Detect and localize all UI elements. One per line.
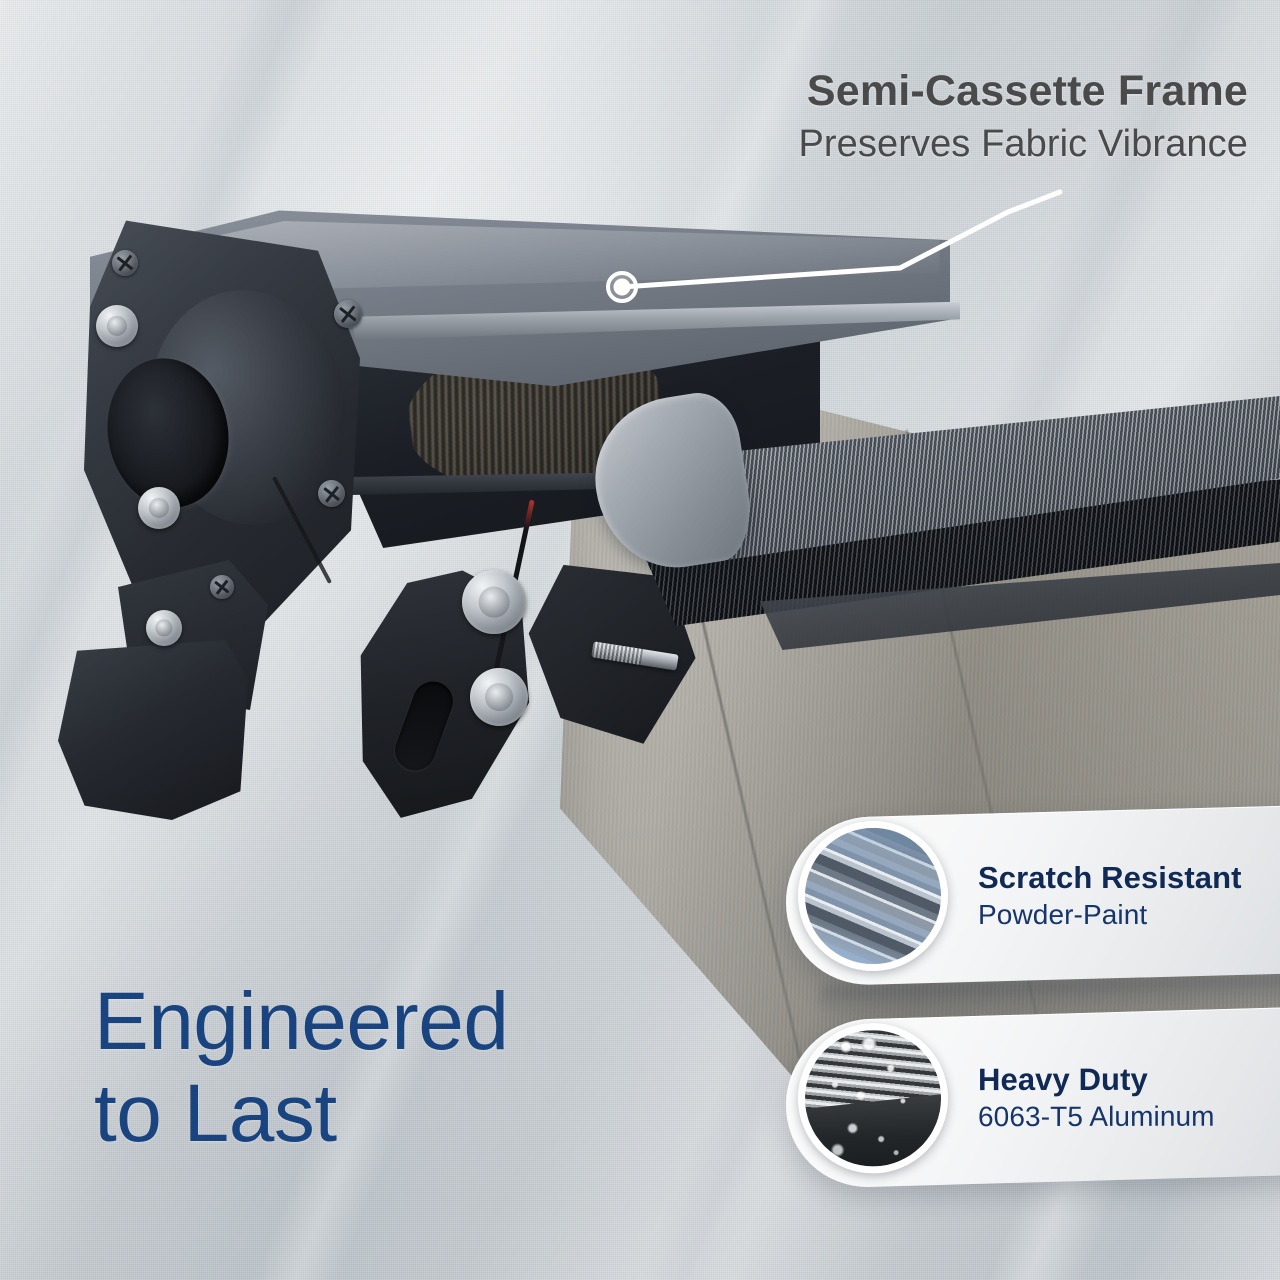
feature-card-title: Heavy Duty — [978, 1061, 1215, 1098]
bottom-headline: Engineered to Last — [94, 976, 508, 1160]
top-headline-line2: Preserves Fabric Vibrance — [798, 121, 1248, 169]
top-headline-line1: Semi-Cassette Frame — [798, 66, 1248, 117]
feature-card-subtitle: 6063-T5 Aluminum — [978, 1100, 1215, 1135]
feature-card-scratch-resistant: Scratch Resistant Powder-Paint — [786, 805, 1280, 987]
feature-card-title: Scratch Resistant — [978, 860, 1242, 897]
feature-card-heavy-duty: Heavy Duty 6063-T5 Aluminum — [786, 1007, 1280, 1190]
bottom-headline-line1: Engineered — [94, 976, 508, 1068]
bottom-headline-line2: to Last — [94, 1068, 508, 1160]
water-bead-aluminum-macro-photo — [798, 1023, 948, 1173]
product-feature-image: Semi-Cassette Frame Preserves Fabric Vib… — [0, 0, 1280, 1280]
top-headline: Semi-Cassette Frame Preserves Fabric Vib… — [798, 66, 1248, 168]
powder-paint-macro-photo — [798, 821, 948, 971]
feature-card-subtitle: Powder-Paint — [978, 898, 1242, 932]
